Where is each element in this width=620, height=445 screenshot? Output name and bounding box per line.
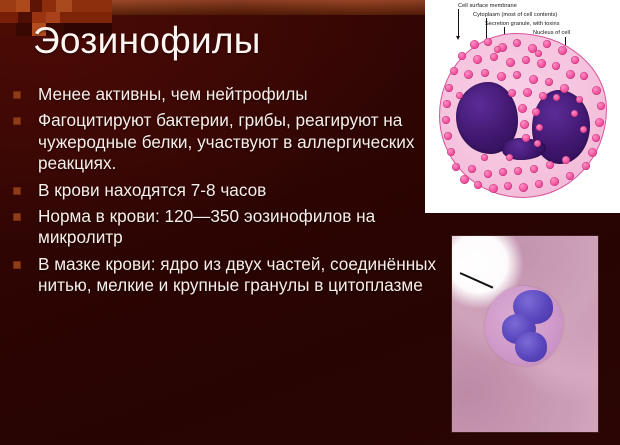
bullet-marker-icon <box>13 117 21 125</box>
blood-smear-eosinophil-micrograph <box>452 236 598 432</box>
bullet-item-2: Фагоцитируют бактерии, грибы, реагируют … <box>10 110 442 174</box>
eosinophil-cell <box>485 286 563 366</box>
slide-title: Эозинофилы <box>33 20 261 61</box>
bullet-list: Менее активны, чем нейтрофилы Фагоцитиру… <box>10 84 442 302</box>
presentation-slide: Эозинофилы Менее активны, чем нейтрофилы… <box>0 0 620 445</box>
bullet-marker-icon <box>13 187 21 195</box>
arrow-to-membrane <box>458 9 459 37</box>
diagram-label-membrane: Cell surface membrane <box>458 3 517 9</box>
eosinophil-structure-diagram: Cell surface membrane Cytoplasm (most of… <box>425 0 620 213</box>
bullet-item-3: В крови находятся 7-8 часов <box>10 180 442 201</box>
bullet-text: В крови находятся 7-8 часов <box>38 180 442 201</box>
eosinophil-cell-body <box>439 33 607 198</box>
bullet-marker-icon <box>13 261 21 269</box>
bullet-item-4: Норма в крови: 120—350 эозинофилов на ми… <box>10 206 442 249</box>
bullet-item-1: Менее активны, чем нейтрофилы <box>10 84 442 105</box>
bullet-text: Норма в крови: 120—350 эозинофилов на ми… <box>38 206 442 249</box>
bullet-text: Менее активны, чем нейтрофилы <box>38 84 442 105</box>
bullet-item-5: В мазке крови: ядро из двух частей, соед… <box>10 254 442 297</box>
bullet-marker-icon <box>13 91 21 99</box>
diagram-label-granule: Secretion granule, with toxins <box>485 21 560 27</box>
nucleus-lobe-lower <box>515 332 547 362</box>
bullet-marker-icon <box>13 213 21 221</box>
bullet-text: Фагоцитируют бактерии, грибы, реагируют … <box>38 110 442 174</box>
bullet-text: В мазке крови: ядро из двух частей, соед… <box>38 254 442 297</box>
